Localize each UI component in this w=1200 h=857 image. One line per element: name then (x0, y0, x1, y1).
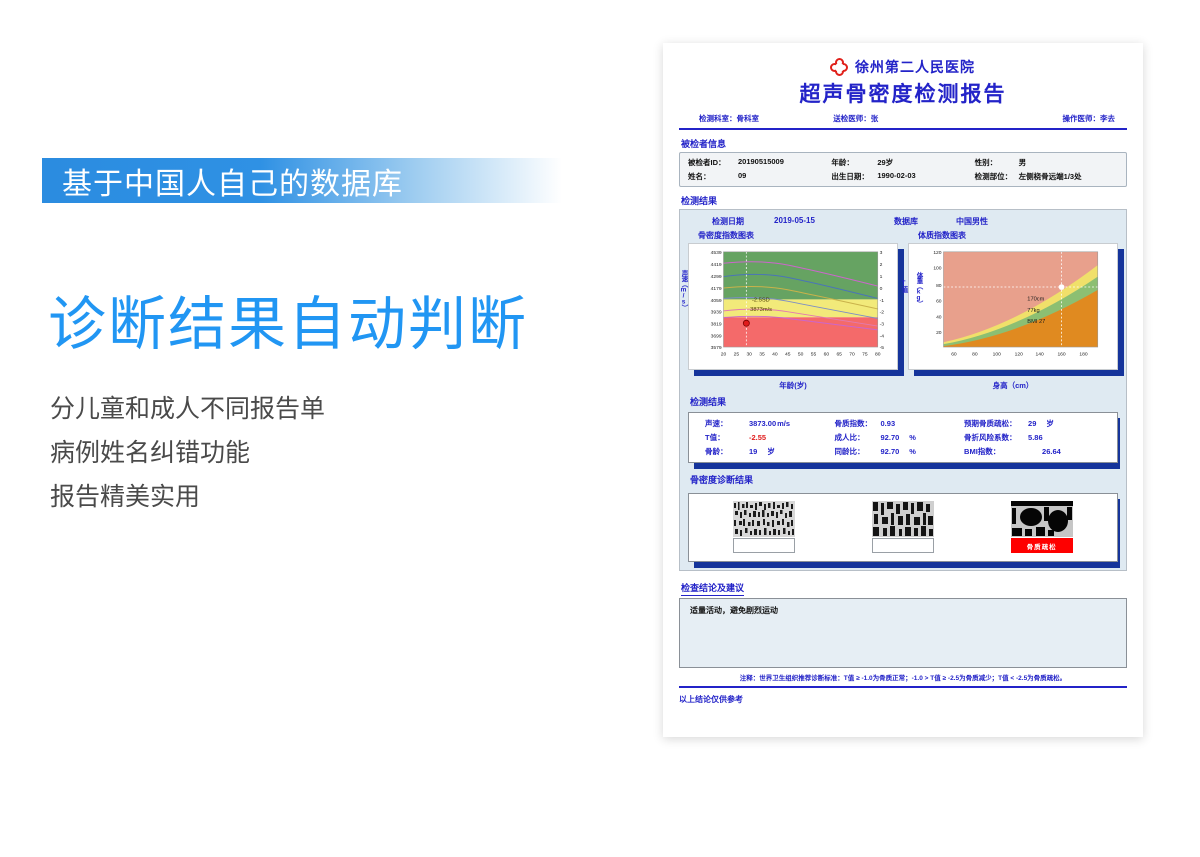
patient-birthdate-value: 1990-02-03 (877, 171, 915, 182)
charts-row: 骨密度指数图表 声速（m/s） (688, 230, 1118, 391)
bmi-chart-svg: 170cm 77kg BMI 27 12010080 604020 608010… (913, 248, 1113, 362)
doctor-row: 检测科室：骨科室 送检医师：张 操作医师：李去 (679, 113, 1127, 130)
patient-name-field: 姓名：09 (688, 171, 831, 182)
svg-text:100: 100 (933, 265, 941, 271)
referring-doctor-label: 送检医师： (833, 114, 871, 123)
bmi-label: BMI指数： (964, 446, 1028, 457)
svg-text:4299: 4299 (711, 274, 722, 280)
svg-text:30: 30 (746, 352, 752, 358)
report-page-card: 徐州第二人民医院 超声骨密度检测报告 检测科室：骨科室 送检医师：张 操作医师：… (663, 43, 1143, 737)
promo-bullet-list: 分儿童和成人不同报告单 病例姓名纠错功能 报告精美实用 (50, 387, 610, 519)
diagnosis-section-title: 骨密度诊断结果 (690, 473, 1118, 486)
patient-id-value: 20190515009 (738, 157, 784, 168)
svg-text:120: 120 (933, 250, 941, 256)
conclusion-text: 适量活动，避免剧烈运动 (690, 606, 778, 615)
sos-value: 3873.00 (749, 419, 776, 428)
patient-birthdate-field: 出生日期：1990-02-03 (831, 171, 974, 182)
svg-text:3579: 3579 (711, 345, 722, 351)
svg-text:180: 180 (1079, 352, 1087, 358)
patient-age-value: 29岁 (877, 157, 893, 168)
list-item: 报告精美实用 (50, 475, 610, 519)
adult-ratio-unit: % (909, 433, 916, 442)
list-item: 分儿童和成人不同报告单 (50, 387, 610, 431)
expected-osteoporosis-value: 29 (1028, 419, 1036, 428)
database-label: 数据库 (894, 216, 956, 227)
patient-id-label: 被检者ID： (688, 157, 738, 168)
bone-age-value: 19 (749, 447, 757, 456)
bone-texture-normal-icon (733, 501, 795, 537)
patient-age-field: 年龄：29岁 (831, 157, 974, 168)
diagnosis-caption (733, 538, 795, 553)
bmd-chart-title: 骨密度指数图表 (688, 230, 898, 241)
svg-text:4059: 4059 (711, 298, 722, 304)
fracture-risk-value: 5.86 (1028, 433, 1043, 442)
results-table-title: 检测结果 (690, 395, 1118, 408)
svg-text:75: 75 (862, 352, 868, 358)
expected-osteoporosis-field: 预期骨质疏松：29岁 (964, 418, 1113, 429)
patient-site-value: 左侧桡骨远端1/3处 (1019, 171, 1082, 182)
department-value: 骨科室 (737, 114, 760, 123)
patient-section-title: 被检者信息 (681, 137, 1127, 150)
svg-text:55: 55 (811, 352, 817, 358)
diagnosis-item (733, 501, 795, 553)
patient-gender-value: 男 (1019, 157, 1027, 168)
adult-ratio-value: 92.70 (881, 433, 900, 442)
svg-text:77kg: 77kg (1027, 308, 1039, 314)
svg-text:-3: -3 (880, 322, 885, 328)
bmi-value: 26.64 (1042, 447, 1061, 456)
who-standard-note: 注释：世界卫生组织推荐诊断标准：T值 ≥ -1.0为骨质正常；-1.0 > T值… (679, 672, 1127, 688)
bone-age-unit: 岁 (767, 446, 775, 457)
operator-doctor-value: 李去 (1100, 114, 1115, 123)
results-values-box: 声速：3873.00m/s 骨质指数：0.93 预期骨质疏松：29岁 T值：-2… (688, 412, 1118, 463)
promo-headline: 诊断结果自动判断 (48, 277, 608, 361)
svg-text:20: 20 (721, 352, 727, 358)
svg-text:60: 60 (936, 299, 942, 305)
bone-texture-osteoporosis-icon (1011, 501, 1073, 537)
svg-text:2: 2 (880, 262, 883, 268)
bmi-chart: T值 体重（kg） (908, 243, 1118, 370)
promo-banner-text: 基于中国人自己的数据库 (62, 159, 403, 203)
diagnosis-item-active: 骨质疏松 (1011, 501, 1073, 553)
peer-ratio-field: 同龄比：92.70% (835, 446, 965, 457)
results-panel: 检测日期 2019-05-15 数据库 中国男性 骨密度指数图表 声速（m/s） (679, 209, 1127, 571)
bmd-chart-column: 骨密度指数图表 声速（m/s） (688, 230, 898, 391)
bone-age-label: 骨龄： (705, 446, 749, 457)
bmi-x-axis-label: 身高（cm） (908, 380, 1118, 391)
svg-text:80: 80 (875, 352, 881, 358)
bmd-y-axis-label: 声速（m/s） (680, 270, 687, 310)
patient-site-field: 检测部位：左侧桡骨远端1/3处 (975, 171, 1118, 182)
diagnosis-images-box: 骨质疏松 (688, 493, 1118, 562)
exam-meta-row: 检测日期 2019-05-15 数据库 中国男性 (688, 216, 1118, 227)
expected-osteoporosis-label: 预期骨质疏松： (964, 418, 1028, 429)
bmd-chart-svg: -2.5SD 3873m/s 453944194299 417940593939… (693, 248, 893, 362)
bone-age-field: 骨龄：19岁 (705, 446, 835, 457)
exam-date-value: 2019-05-15 (774, 216, 894, 227)
svg-text:3873m/s: 3873m/s (750, 307, 772, 313)
bmd-chart: 声速（m/s） (688, 243, 898, 370)
results-section-title: 检测结果 (681, 194, 1127, 207)
svg-text:35: 35 (759, 352, 765, 358)
operator-doctor-label: 操作医师： (1062, 114, 1100, 123)
sos-field: 声速：3873.00m/s (705, 418, 835, 429)
patient-gender-field: 性别：男 (975, 157, 1118, 168)
svg-text:60: 60 (951, 352, 957, 358)
svg-text:40: 40 (936, 314, 942, 320)
svg-text:-5: -5 (880, 345, 885, 351)
svg-text:-1: -1 (880, 298, 885, 304)
svg-text:45: 45 (785, 352, 791, 358)
diagnosis-item (872, 501, 934, 553)
page-title: 超声骨密度检测报告 (679, 78, 1127, 108)
referring-doctor-field: 送检医师：张 (833, 113, 977, 124)
svg-text:3699: 3699 (711, 334, 722, 340)
svg-text:120: 120 (1015, 352, 1023, 358)
svg-text:-4: -4 (880, 334, 885, 340)
patient-name-label: 姓名： (688, 171, 738, 182)
patient-gender-label: 性别： (975, 157, 1019, 168)
svg-text:80: 80 (936, 283, 942, 289)
hospital-cross-icon (831, 59, 847, 75)
svg-text:-2.5SD: -2.5SD (752, 297, 770, 303)
bmi-chart-title: 体质指数图表 (908, 230, 1118, 241)
footer-disclaimer: 以上结论仅供参考 (679, 694, 1127, 705)
svg-text:50: 50 (798, 352, 804, 358)
svg-text:-2: -2 (880, 310, 885, 316)
bqi-value: 0.93 (881, 419, 896, 428)
bqi-field: 骨质指数：0.93 (835, 418, 965, 429)
patient-age-label: 年龄： (831, 157, 877, 168)
sos-label: 声速： (705, 418, 749, 429)
conclusion-section-title: 检查结论及建议 (681, 581, 744, 596)
bmi-chart-column: 体质指数图表 T值 体重（kg） (908, 230, 1118, 391)
svg-text:70: 70 (849, 352, 855, 358)
adult-ratio-label: 成人比： (835, 432, 881, 443)
exam-date-label: 检测日期 (712, 216, 774, 227)
department-field: 检测科室：骨科室 (685, 113, 833, 124)
list-item: 病例姓名纠错功能 (50, 431, 610, 475)
expected-osteoporosis-unit: 岁 (1046, 418, 1054, 429)
svg-text:4179: 4179 (711, 286, 722, 292)
database-value: 中国男性 (956, 216, 988, 227)
svg-text:3939: 3939 (711, 310, 722, 316)
svg-text:20: 20 (936, 330, 942, 336)
bone-texture-reduced-icon (872, 501, 934, 537)
peer-ratio-unit: % (909, 447, 916, 456)
bqi-label: 骨质指数： (835, 418, 881, 429)
referring-doctor-value: 张 (871, 114, 879, 123)
hospital-name: 徐州第二人民医院 (855, 57, 975, 77)
svg-text:65: 65 (836, 352, 842, 358)
svg-text:BMI 27: BMI 27 (1027, 319, 1045, 325)
svg-text:140: 140 (1036, 352, 1044, 358)
bmi-y-axis-label: 体重（kg） (915, 272, 922, 306)
adult-ratio-field: 成人比：92.70% (835, 432, 965, 443)
svg-text:160: 160 (1057, 352, 1065, 358)
svg-text:4419: 4419 (711, 262, 722, 268)
svg-text:4539: 4539 (711, 250, 722, 256)
patient-birthdate-label: 出生日期： (831, 171, 877, 182)
diagnosis-caption (872, 538, 934, 553)
svg-text:100: 100 (993, 352, 1001, 358)
svg-text:60: 60 (824, 352, 830, 358)
peer-ratio-label: 同龄比： (835, 446, 881, 457)
fracture-risk-field: 骨折风险系数：5.86 (964, 432, 1113, 443)
sos-unit: m/s (777, 419, 790, 428)
svg-text:1: 1 (880, 274, 883, 280)
patient-site-label: 检测部位： (975, 171, 1019, 182)
svg-text:3819: 3819 (711, 322, 722, 328)
fracture-risk-label: 骨折风险系数： (964, 432, 1028, 443)
diagnosis-status-badge: 骨质疏松 (1011, 538, 1073, 553)
peer-ratio-value: 92.70 (881, 447, 900, 456)
svg-text:0: 0 (880, 286, 883, 292)
svg-text:170cm: 170cm (1027, 296, 1044, 302)
patient-name-value: 09 (738, 171, 746, 182)
operator-doctor-field: 操作医师：李去 (977, 113, 1121, 124)
svg-text:3: 3 (880, 250, 883, 256)
bmd-t-axis-label: T值 (900, 280, 907, 292)
bmi-field: BMI指数：26.64 (964, 446, 1113, 457)
svg-text:25: 25 (734, 352, 740, 358)
svg-text:40: 40 (772, 352, 778, 358)
t-score-value: -2.55 (749, 433, 766, 442)
promo-panel: 基于中国人自己的数据库 诊断结果自动判断 分儿童和成人不同报告单 病例姓名纠错功… (0, 0, 640, 857)
report-header: 徐州第二人民医院 超声骨密度检测报告 (679, 57, 1127, 108)
t-score-label: T值： (705, 432, 749, 443)
patient-info-box: 被检者ID：20190515009 年龄：29岁 性别：男 姓名：09 出生日期… (679, 152, 1127, 187)
conclusion-box[interactable]: 适量活动，避免剧烈运动 (679, 598, 1127, 668)
department-label: 检测科室： (699, 114, 737, 123)
bmd-x-axis-label: 年龄(岁) (688, 380, 898, 391)
svg-text:80: 80 (972, 352, 978, 358)
t-score-field: T值：-2.55 (705, 432, 835, 443)
promo-banner: 基于中国人自己的数据库 (42, 158, 562, 203)
patient-id-field: 被检者ID：20190515009 (688, 157, 831, 168)
